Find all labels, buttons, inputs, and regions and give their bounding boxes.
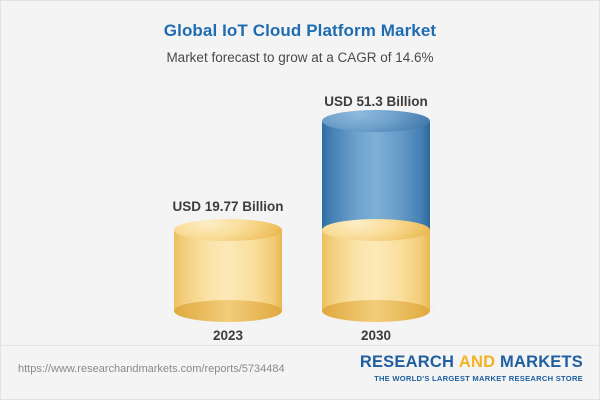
cylinder-body — [322, 121, 430, 230]
cylinder-2030[interactable] — [322, 121, 430, 311]
brand-logo[interactable]: RESEARCH AND MARKETS THE WORLD'S LARGEST… — [360, 354, 583, 383]
logo-wordmark: RESEARCH AND MARKETS — [360, 354, 583, 371]
cylinder-bottom-cap — [322, 300, 430, 322]
chart-title: Global IoT Cloud Platform Market — [1, 21, 599, 41]
cylinder-segment-base — [322, 230, 430, 311]
cylinder-segment-growth — [322, 121, 430, 230]
bar-group-2023: USD 19.77 Billion 2023 — [158, 81, 298, 343]
logo-word-research: RESEARCH — [360, 353, 454, 371]
value-label-2023: USD 19.77 Billion — [172, 199, 283, 214]
category-label-2030: 2030 — [361, 328, 391, 343]
logo-tagline: THE WORLD'S LARGEST MARKET RESEARCH STOR… — [360, 374, 583, 383]
chart-subtitle: Market forecast to grow at a CAGR of 14.… — [1, 50, 599, 65]
cylinder-segment-base — [174, 230, 282, 311]
plot-area: USD 19.77 Billion 2023 USD 51.3 Billion — [1, 81, 600, 343]
cylinder-divider-cap — [322, 219, 430, 241]
cylinder-bottom-cap — [174, 300, 282, 322]
footer: https://www.researchandmarkets.com/repor… — [1, 345, 600, 399]
cylinder-2023[interactable] — [174, 230, 282, 311]
logo-word-and: AND — [459, 353, 495, 371]
cylinder-top-cap — [174, 219, 282, 241]
chart-header: Global IoT Cloud Platform Market Market … — [1, 21, 599, 65]
cylinder-top-cap — [322, 110, 430, 132]
report-url[interactable]: https://www.researchandmarkets.com/repor… — [18, 363, 285, 375]
chart-card: Global IoT Cloud Platform Market Market … — [0, 0, 600, 400]
cylinder-body — [174, 230, 282, 311]
value-label-2030: USD 51.3 Billion — [324, 94, 428, 109]
bar-group-2030: USD 51.3 Billion 2030 — [306, 81, 446, 343]
cylinder-body — [322, 230, 430, 311]
logo-word-markets: MARKETS — [500, 353, 583, 371]
category-label-2023: 2023 — [213, 328, 243, 343]
